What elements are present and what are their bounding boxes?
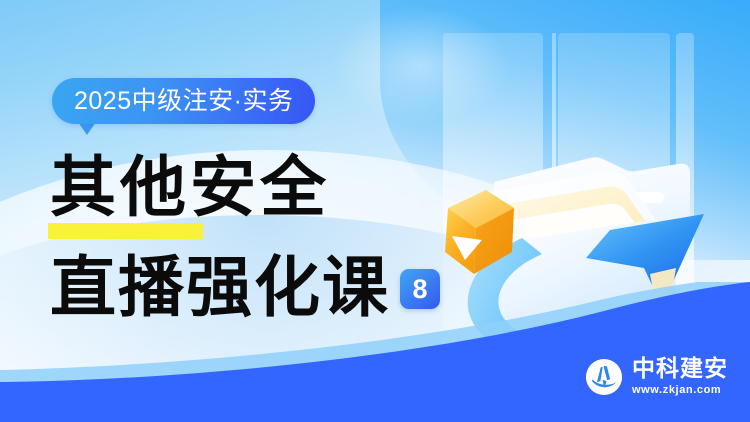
logo-brand-name: 中科建安 [632,357,728,380]
brand-logo: 中科建安 www.zkjan.com [585,357,728,396]
course-promo-banner: 2025中级注安·实务 其他安全 直播强化课 8 中科建安 www.zkjan.… [0,0,750,422]
logo-text-block: 中科建安 www.zkjan.com [632,357,728,396]
course-category-badge: 2025中级注安·实务 [52,78,315,124]
course-category-label: 2025中级注安·实务 [74,89,293,114]
headline-line-1: 其他安全 [50,156,330,222]
banner-text-content: 2025中级注安·实务 其他安全 直播强化课 8 [0,0,430,422]
logo-website-url: www.zkjan.com [632,385,728,396]
headline-line-2: 直播强化课 [50,256,390,322]
headline-highlight-bar [48,223,203,239]
zkjan-circle-logo-icon [585,358,623,396]
episode-number-badge: 8 [400,269,440,309]
headline-line-2-row: 直播强化课 8 [50,256,440,322]
